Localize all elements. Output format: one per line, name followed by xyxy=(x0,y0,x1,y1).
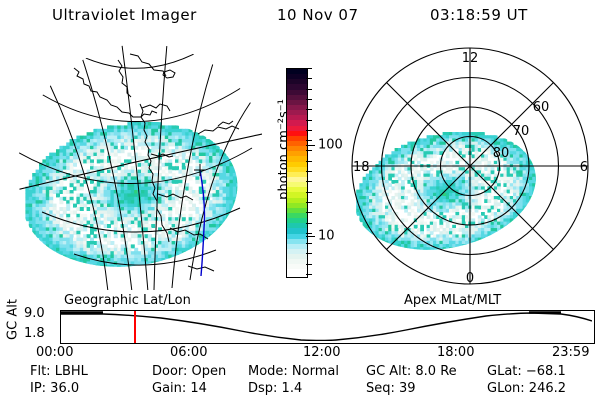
aurora-pixel xyxy=(226,156,230,160)
aurora-pixel xyxy=(219,227,223,231)
aurora-pixel xyxy=(127,244,131,248)
aurora-pixel xyxy=(168,166,172,170)
aurora-pixel xyxy=(168,251,172,255)
aurora-pixel xyxy=(161,251,165,255)
mlt-label-12: 12 xyxy=(462,51,479,66)
aurora-pixel xyxy=(195,149,199,153)
aurora-pixel xyxy=(433,154,437,158)
aurora-pixel xyxy=(195,139,199,143)
aurora-pixel xyxy=(144,176,148,180)
aurora-pixel xyxy=(134,139,138,143)
aurora-pixel xyxy=(161,176,165,180)
aurora-pixel xyxy=(53,183,57,187)
aurora-pixel xyxy=(70,166,74,170)
aurora-emission-mlt xyxy=(356,132,539,251)
aurora-pixel xyxy=(117,166,121,170)
metadata-field: IP: 36.0 xyxy=(30,381,79,396)
aurora-pixel xyxy=(175,166,179,170)
mlt-label-6: 6 xyxy=(580,160,588,175)
aurora-pixel xyxy=(219,217,223,221)
aurora-pixel xyxy=(76,234,80,238)
aurora-pixel xyxy=(202,139,206,143)
colorbar-tick xyxy=(306,109,312,110)
aurora-pixel xyxy=(523,209,527,213)
aurora-pixel xyxy=(195,156,199,160)
gc-altitude-curve xyxy=(61,313,592,341)
aurora-pixel xyxy=(535,177,539,181)
aurora-pixel xyxy=(449,247,453,251)
aurora-pixel xyxy=(195,159,199,163)
metadata-panel: Flt: LBHLDoor: OpenMode: NormalGC Alt: 8… xyxy=(0,364,600,398)
aurora-pixel xyxy=(100,156,104,160)
aurora-pixel xyxy=(87,156,91,160)
aurora-pixel xyxy=(223,221,227,225)
aurora-pixel xyxy=(229,176,233,180)
aurora-pixel xyxy=(117,156,121,160)
aurora-pixel xyxy=(229,183,233,187)
aurora-pixel xyxy=(212,227,216,231)
uvi-display: Ultraviolet Imager 10 Nov 07 03:18:59 UT xyxy=(0,0,600,400)
aurora-pixel xyxy=(127,142,131,146)
aurora-pixel xyxy=(168,159,172,163)
mlt-panel-title: Apex MLat/MLT xyxy=(404,293,501,308)
colorbar-tick xyxy=(306,212,312,213)
aurora-pixel xyxy=(478,161,482,165)
observation-time: 03:18:59 UT xyxy=(430,6,528,24)
geographic-map-svg xyxy=(12,42,262,290)
aurora-pixel xyxy=(185,244,189,248)
aurora-pixel xyxy=(83,217,87,221)
colorbar-gradient xyxy=(286,68,308,278)
aurora-pixel xyxy=(114,244,118,248)
aurora-pixel xyxy=(172,200,176,204)
metadata-field: GLon: 246.2 xyxy=(487,381,566,396)
aurora-pixel xyxy=(151,142,155,146)
aurora-pixel xyxy=(202,176,206,180)
aurora-pixel xyxy=(212,159,216,163)
aurora-pixel xyxy=(168,200,172,204)
latitude-label-60: 60 xyxy=(533,100,550,115)
observation-date: 10 Nov 07 xyxy=(277,6,359,24)
aurora-pixel xyxy=(114,142,118,146)
aurora-pixel xyxy=(134,210,138,214)
colorbar-tick xyxy=(306,89,312,90)
aurora-pixel xyxy=(189,176,193,180)
aurora-pixel xyxy=(189,200,193,204)
colorbar-tick-label: 10 xyxy=(318,229,335,244)
aurora-pixel xyxy=(59,200,63,204)
colorbar-tick xyxy=(306,99,312,100)
aurora-pixel xyxy=(168,149,172,153)
aurora-pixel xyxy=(97,217,101,221)
aurora-pixel xyxy=(124,166,128,170)
aurora-pixel xyxy=(465,244,469,248)
aurora-pixel xyxy=(500,228,504,232)
aurora-pixel xyxy=(229,193,233,197)
aurora-pixel xyxy=(134,200,138,204)
metadata-field: Mode: Normal xyxy=(248,364,339,379)
aurora-pixel xyxy=(236,193,240,197)
geographic-panel-title: Geographic Lat/Lon xyxy=(64,293,191,308)
aurora-pixel xyxy=(185,251,189,255)
aurora-pixel xyxy=(216,231,220,235)
aurora-pixel xyxy=(535,180,539,184)
aurora-pixel xyxy=(168,125,172,129)
metadata-field: Gain: 14 xyxy=(152,381,207,396)
strip-x-axis-ticks: 00:0006:0012:0018:0023:59 xyxy=(0,345,600,361)
aurora-pixel xyxy=(80,183,84,187)
aurora-pixel xyxy=(148,234,152,238)
aurora-pixel xyxy=(134,193,138,197)
aurora-pixel xyxy=(212,156,216,160)
aurora-pixel xyxy=(144,234,148,238)
strip-ytick-top: 9.0 xyxy=(24,306,45,321)
aurora-pixel xyxy=(219,224,223,228)
aurora-pixel xyxy=(229,200,233,204)
aurora-pixel xyxy=(202,156,206,160)
aurora-pixel xyxy=(90,159,94,163)
aurora-pixel xyxy=(182,217,186,221)
aurora-pixel xyxy=(151,166,155,170)
mlt-polar-svg: 12 6 0 18 60 70 80 xyxy=(345,42,595,290)
aurora-pixel xyxy=(175,125,179,129)
aurora-pixel xyxy=(70,200,74,204)
colorbar-major-tick xyxy=(306,236,315,237)
aurora-pixel xyxy=(182,166,186,170)
aurora-pixel xyxy=(185,183,189,187)
strip-y-axis-label-wrap: GC Alt xyxy=(2,300,24,342)
aurora-pixel xyxy=(138,234,142,238)
aurora-pixel xyxy=(507,225,511,229)
aurora-pixel xyxy=(161,139,165,143)
colorbar-tick xyxy=(306,161,312,162)
aurora-pixel xyxy=(73,210,77,214)
aurora-pixel xyxy=(168,210,172,214)
aurora-pixel xyxy=(185,132,189,136)
aurora-pixel xyxy=(185,142,189,146)
aurora-pixel xyxy=(229,166,233,170)
aurora-pixel xyxy=(151,159,155,163)
aurora-pixel xyxy=(209,234,213,238)
colorbar-major-tick xyxy=(306,145,315,146)
aurora-pixel xyxy=(178,142,182,146)
aurora-pixel xyxy=(195,180,199,184)
aurora-pixel xyxy=(209,139,213,143)
colorbar-tick xyxy=(306,233,312,234)
aurora-pixel xyxy=(182,207,186,211)
aurora-pixel xyxy=(233,200,237,204)
colorbar: photon cm⁻²s⁻¹ 10010 xyxy=(264,50,344,290)
aurora-pixel xyxy=(168,258,172,262)
aurora-pixel xyxy=(151,125,155,129)
aurora-pixel xyxy=(233,204,237,208)
mlt-polar-panel: 12 6 0 18 60 70 80 xyxy=(345,42,595,290)
metadata-field: Dsp: 1.4 xyxy=(248,381,302,396)
aurora-pixel xyxy=(526,206,530,210)
aurora-pixel xyxy=(80,200,84,204)
colorbar-tick xyxy=(306,68,312,69)
aurora-pixel xyxy=(535,174,539,178)
latitude-label-80: 80 xyxy=(493,146,510,161)
aurora-pixel xyxy=(484,238,488,242)
aurora-pixel xyxy=(56,193,60,197)
strip-xtick-label: 23:59 xyxy=(552,345,589,360)
aurora-pixel xyxy=(178,183,182,187)
aurora-pixel xyxy=(127,193,131,197)
aurora-pixel xyxy=(59,183,63,187)
aurora-pixel xyxy=(219,183,223,187)
metadata-field: GC Alt: 8.0 Re xyxy=(366,364,457,379)
aurora-pixel xyxy=(446,154,450,158)
aurora-pixel xyxy=(532,193,536,197)
mlt-label-18: 18 xyxy=(353,160,370,175)
aurora-pixel xyxy=(87,234,91,238)
aurora-pixel xyxy=(80,187,84,191)
aurora-pixel xyxy=(178,139,182,143)
aurora-pixel xyxy=(475,241,479,245)
aurora-pixel xyxy=(185,139,189,143)
aurora-pixel xyxy=(127,153,131,157)
aurora-pixel xyxy=(172,234,176,238)
aurora-pixel xyxy=(219,210,223,214)
aurora-pixel xyxy=(226,217,230,221)
aurora-pixel xyxy=(161,132,165,136)
aurora-pixel xyxy=(144,210,148,214)
aurora-pixel xyxy=(127,227,131,231)
aurora-pixel xyxy=(127,176,131,180)
aurora-pixel xyxy=(185,156,189,160)
aurora-pixel xyxy=(168,183,172,187)
aurora-pixel xyxy=(144,217,148,221)
aurora-pixel xyxy=(144,227,148,231)
aurora-pixel xyxy=(233,166,237,170)
strip-plot-titles: Geographic Lat/Lon Apex MLat/MLT xyxy=(0,293,600,309)
header: Ultraviolet Imager 10 Nov 07 03:18:59 UT xyxy=(0,6,600,30)
metadata-field: GLat: −68.1 xyxy=(487,364,566,379)
latitude-label-70: 70 xyxy=(513,124,530,139)
aurora-pixel xyxy=(175,156,179,160)
colorbar-tick xyxy=(306,192,312,193)
strip-ytick-bottom: 1.8 xyxy=(24,326,45,341)
aurora-pixel xyxy=(161,142,165,146)
aurora-pixel xyxy=(49,193,53,197)
aurora-pixel xyxy=(178,170,182,174)
aurora-pixel xyxy=(168,139,172,143)
aurora-pixel xyxy=(212,200,216,204)
aurora-pixel xyxy=(212,193,216,197)
aurora-pixel xyxy=(144,193,148,197)
aurora-pixel xyxy=(195,132,199,136)
aurora-pixel xyxy=(212,210,216,214)
aurora-pixel xyxy=(151,149,155,153)
aurora-pixel xyxy=(127,210,131,214)
aurora-pixel xyxy=(178,255,182,259)
aurora-pixel xyxy=(202,159,206,163)
aurora-pixel xyxy=(127,125,131,129)
colorbar-tick xyxy=(306,202,312,203)
aurora-pixel xyxy=(195,142,199,146)
aurora-pixel xyxy=(236,183,240,187)
colorbar-tick xyxy=(306,120,312,121)
aurora-pixel xyxy=(70,183,74,187)
aurora-pixel xyxy=(404,218,408,222)
aurora-pixel xyxy=(131,244,135,248)
aurora-pixel xyxy=(90,244,94,248)
aurora-pixel xyxy=(117,159,121,163)
aurora-pixel xyxy=(127,200,131,204)
aurora-pixel xyxy=(212,149,216,153)
aurora-pixel xyxy=(127,139,131,143)
aurora-pixel xyxy=(151,244,155,248)
aurora-pixel xyxy=(219,166,223,170)
aurora-pixel xyxy=(487,199,491,203)
aurora-pixel xyxy=(151,132,155,136)
aurora-pixel xyxy=(178,244,182,248)
aurora-pixel xyxy=(134,251,138,255)
colorbar-tick xyxy=(306,150,312,151)
aurora-pixel xyxy=(151,200,155,204)
aurora-pixel xyxy=(497,231,501,235)
colorbar-tick xyxy=(306,171,312,172)
aurora-pixel xyxy=(212,231,216,235)
aurora-pixel xyxy=(219,193,223,197)
aurora-pixel xyxy=(80,207,84,211)
aurora-pixel xyxy=(151,210,155,214)
mlt-label-0: 0 xyxy=(466,271,474,286)
aurora-pixel xyxy=(83,227,87,231)
strip-y-axis-label: GC Alt xyxy=(6,297,21,343)
metadata-field: Seq: 39 xyxy=(366,381,416,396)
colorbar-tick xyxy=(306,130,312,131)
aurora-pixel xyxy=(168,217,172,221)
aurora-pixel xyxy=(161,200,165,204)
strip-xtick-label: 12:00 xyxy=(303,345,340,360)
aurora-pixel xyxy=(216,227,220,231)
aurora-pixel xyxy=(70,217,74,221)
strip-xtick-label: 06:00 xyxy=(170,345,207,360)
aurora-pixel xyxy=(161,258,165,262)
aurora-pixel xyxy=(63,210,67,214)
aurora-pixel xyxy=(49,200,53,204)
aurora-pixel xyxy=(535,183,539,187)
aurora-pixel xyxy=(175,210,179,214)
aurora-pixel xyxy=(134,234,138,238)
aurora-pixel xyxy=(104,244,108,248)
strip-xtick-label: 00:00 xyxy=(36,345,73,360)
metadata-field: Flt: LBHL xyxy=(30,364,88,379)
aurora-pixel xyxy=(121,149,125,153)
aurora-pixel xyxy=(219,176,223,180)
aurora-pixel xyxy=(148,227,152,231)
aurora-pixel xyxy=(513,218,517,222)
aurora-pixel xyxy=(195,217,199,221)
aurora-pixel xyxy=(70,227,74,231)
aurora-pixel xyxy=(114,234,118,238)
aurora-pixel xyxy=(168,142,172,146)
aurora-pixel xyxy=(70,234,74,238)
aurora-pixel xyxy=(481,238,485,242)
aurora-pixel xyxy=(195,193,199,197)
aurora-pixel xyxy=(212,183,216,187)
aurora-pixel xyxy=(168,234,172,238)
aurora-pixel xyxy=(144,166,148,170)
aurora-pixel xyxy=(161,149,165,153)
aurora-pixel xyxy=(219,200,223,204)
aurora-pixel xyxy=(202,149,206,153)
aurora-pixel xyxy=(195,197,199,201)
colorbar-tick xyxy=(306,243,312,244)
colorbar-tick xyxy=(306,274,312,275)
geographic-map-panel xyxy=(12,42,262,290)
aurora-pixel xyxy=(144,200,148,204)
colorbar-ticks: 10010 xyxy=(306,68,346,276)
aurora-pixel xyxy=(107,234,111,238)
metadata-field: Door: Open xyxy=(152,364,226,379)
colorbar-tick xyxy=(306,253,312,254)
aurora-pixel xyxy=(134,217,138,221)
colorbar-tick xyxy=(306,140,312,141)
colorbar-tick xyxy=(306,78,312,79)
colorbar-band xyxy=(287,269,307,274)
time-cursor[interactable] xyxy=(134,311,136,343)
aurora-pixel xyxy=(144,183,148,187)
strip-xtick-label: 18:00 xyxy=(437,345,474,360)
altitude-curve-svg xyxy=(61,311,592,341)
aurora-pixel xyxy=(168,244,172,248)
aurora-pixel xyxy=(178,132,182,136)
aurora-pixel xyxy=(127,132,131,136)
aurora-pixel xyxy=(178,251,182,255)
colorbar-tick xyxy=(306,223,312,224)
aurora-pixel xyxy=(195,210,199,214)
aurora-pixel xyxy=(219,149,223,153)
aurora-pixel xyxy=(189,166,193,170)
mlt-spokes xyxy=(352,48,588,284)
aurora-pixel xyxy=(161,244,165,248)
aurora-pixel xyxy=(423,158,427,162)
aurora-pixel xyxy=(185,234,189,238)
aurora-pixel xyxy=(63,227,67,231)
aurora-pixel xyxy=(407,212,411,216)
aurora-pixel xyxy=(134,125,138,129)
aurora-pixel xyxy=(73,176,77,180)
aurora-pixel xyxy=(144,244,148,248)
aurora-pixel xyxy=(161,125,165,129)
aurora-pixel xyxy=(131,166,135,170)
aurora-pixel xyxy=(529,199,533,203)
aurora-pixel xyxy=(107,224,111,228)
aurora-pixel xyxy=(134,132,138,136)
instrument-title: Ultraviolet Imager xyxy=(52,6,197,24)
aurora-pixel xyxy=(510,222,514,226)
altitude-strip-plot[interactable] xyxy=(60,310,595,344)
colorbar-tick-label: 100 xyxy=(318,138,343,153)
aurora-pixel xyxy=(168,132,172,136)
aurora-pixel xyxy=(494,231,498,235)
colorbar-tick xyxy=(306,264,312,265)
aurora-pixel xyxy=(161,234,165,238)
colorbar-tick xyxy=(306,181,312,182)
aurora-pixel xyxy=(127,251,131,255)
aurora-pixel xyxy=(151,139,155,143)
aurora-pixel xyxy=(202,180,206,184)
aurora-pixel xyxy=(70,193,74,197)
aurora-pixel xyxy=(131,224,135,228)
aurora-pixel xyxy=(56,210,60,214)
aurora-pixel xyxy=(151,217,155,221)
aurora-pixel xyxy=(189,248,193,252)
aurora-pixel xyxy=(236,176,240,180)
